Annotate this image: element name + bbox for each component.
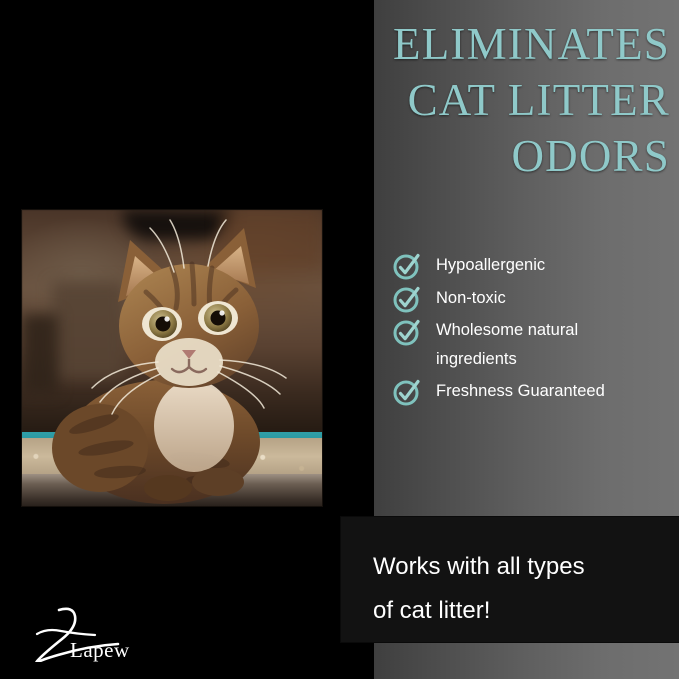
list-item: Wholesome natural ingredients [392, 316, 672, 374]
product-ad-image: ELIMINATES CAT LITTER ODORS [0, 0, 679, 679]
check-circle-icon [392, 317, 422, 347]
kitten-illustration [22, 210, 322, 506]
headline: ELIMINATES CAT LITTER ODORS [250, 16, 670, 184]
list-item: Freshness Guaranteed [392, 376, 672, 407]
list-item-label: Non-toxic [436, 283, 506, 313]
list-item: Non-toxic [392, 283, 672, 314]
brand-logo: Lapew [26, 604, 156, 662]
feature-list: Hypoallergenic Non-toxic Wholesome natur… [392, 250, 672, 409]
check-circle-icon [392, 251, 422, 281]
list-item-label: Hypoallergenic [436, 250, 545, 280]
list-item-label: Wholesome natural ingredients [436, 316, 578, 374]
check-circle-icon [392, 377, 422, 407]
kitten-photo [22, 210, 322, 506]
callout-banner: Works with all types of cat litter! [341, 517, 679, 642]
list-item-label: Freshness Guaranteed [436, 376, 605, 406]
brand-wordmark: Lapew [70, 640, 130, 661]
list-item: Hypoallergenic [392, 250, 672, 281]
check-circle-icon [392, 284, 422, 314]
photo-scene [22, 210, 322, 506]
callout-banner-text: Works with all types of cat litter! [373, 545, 663, 633]
